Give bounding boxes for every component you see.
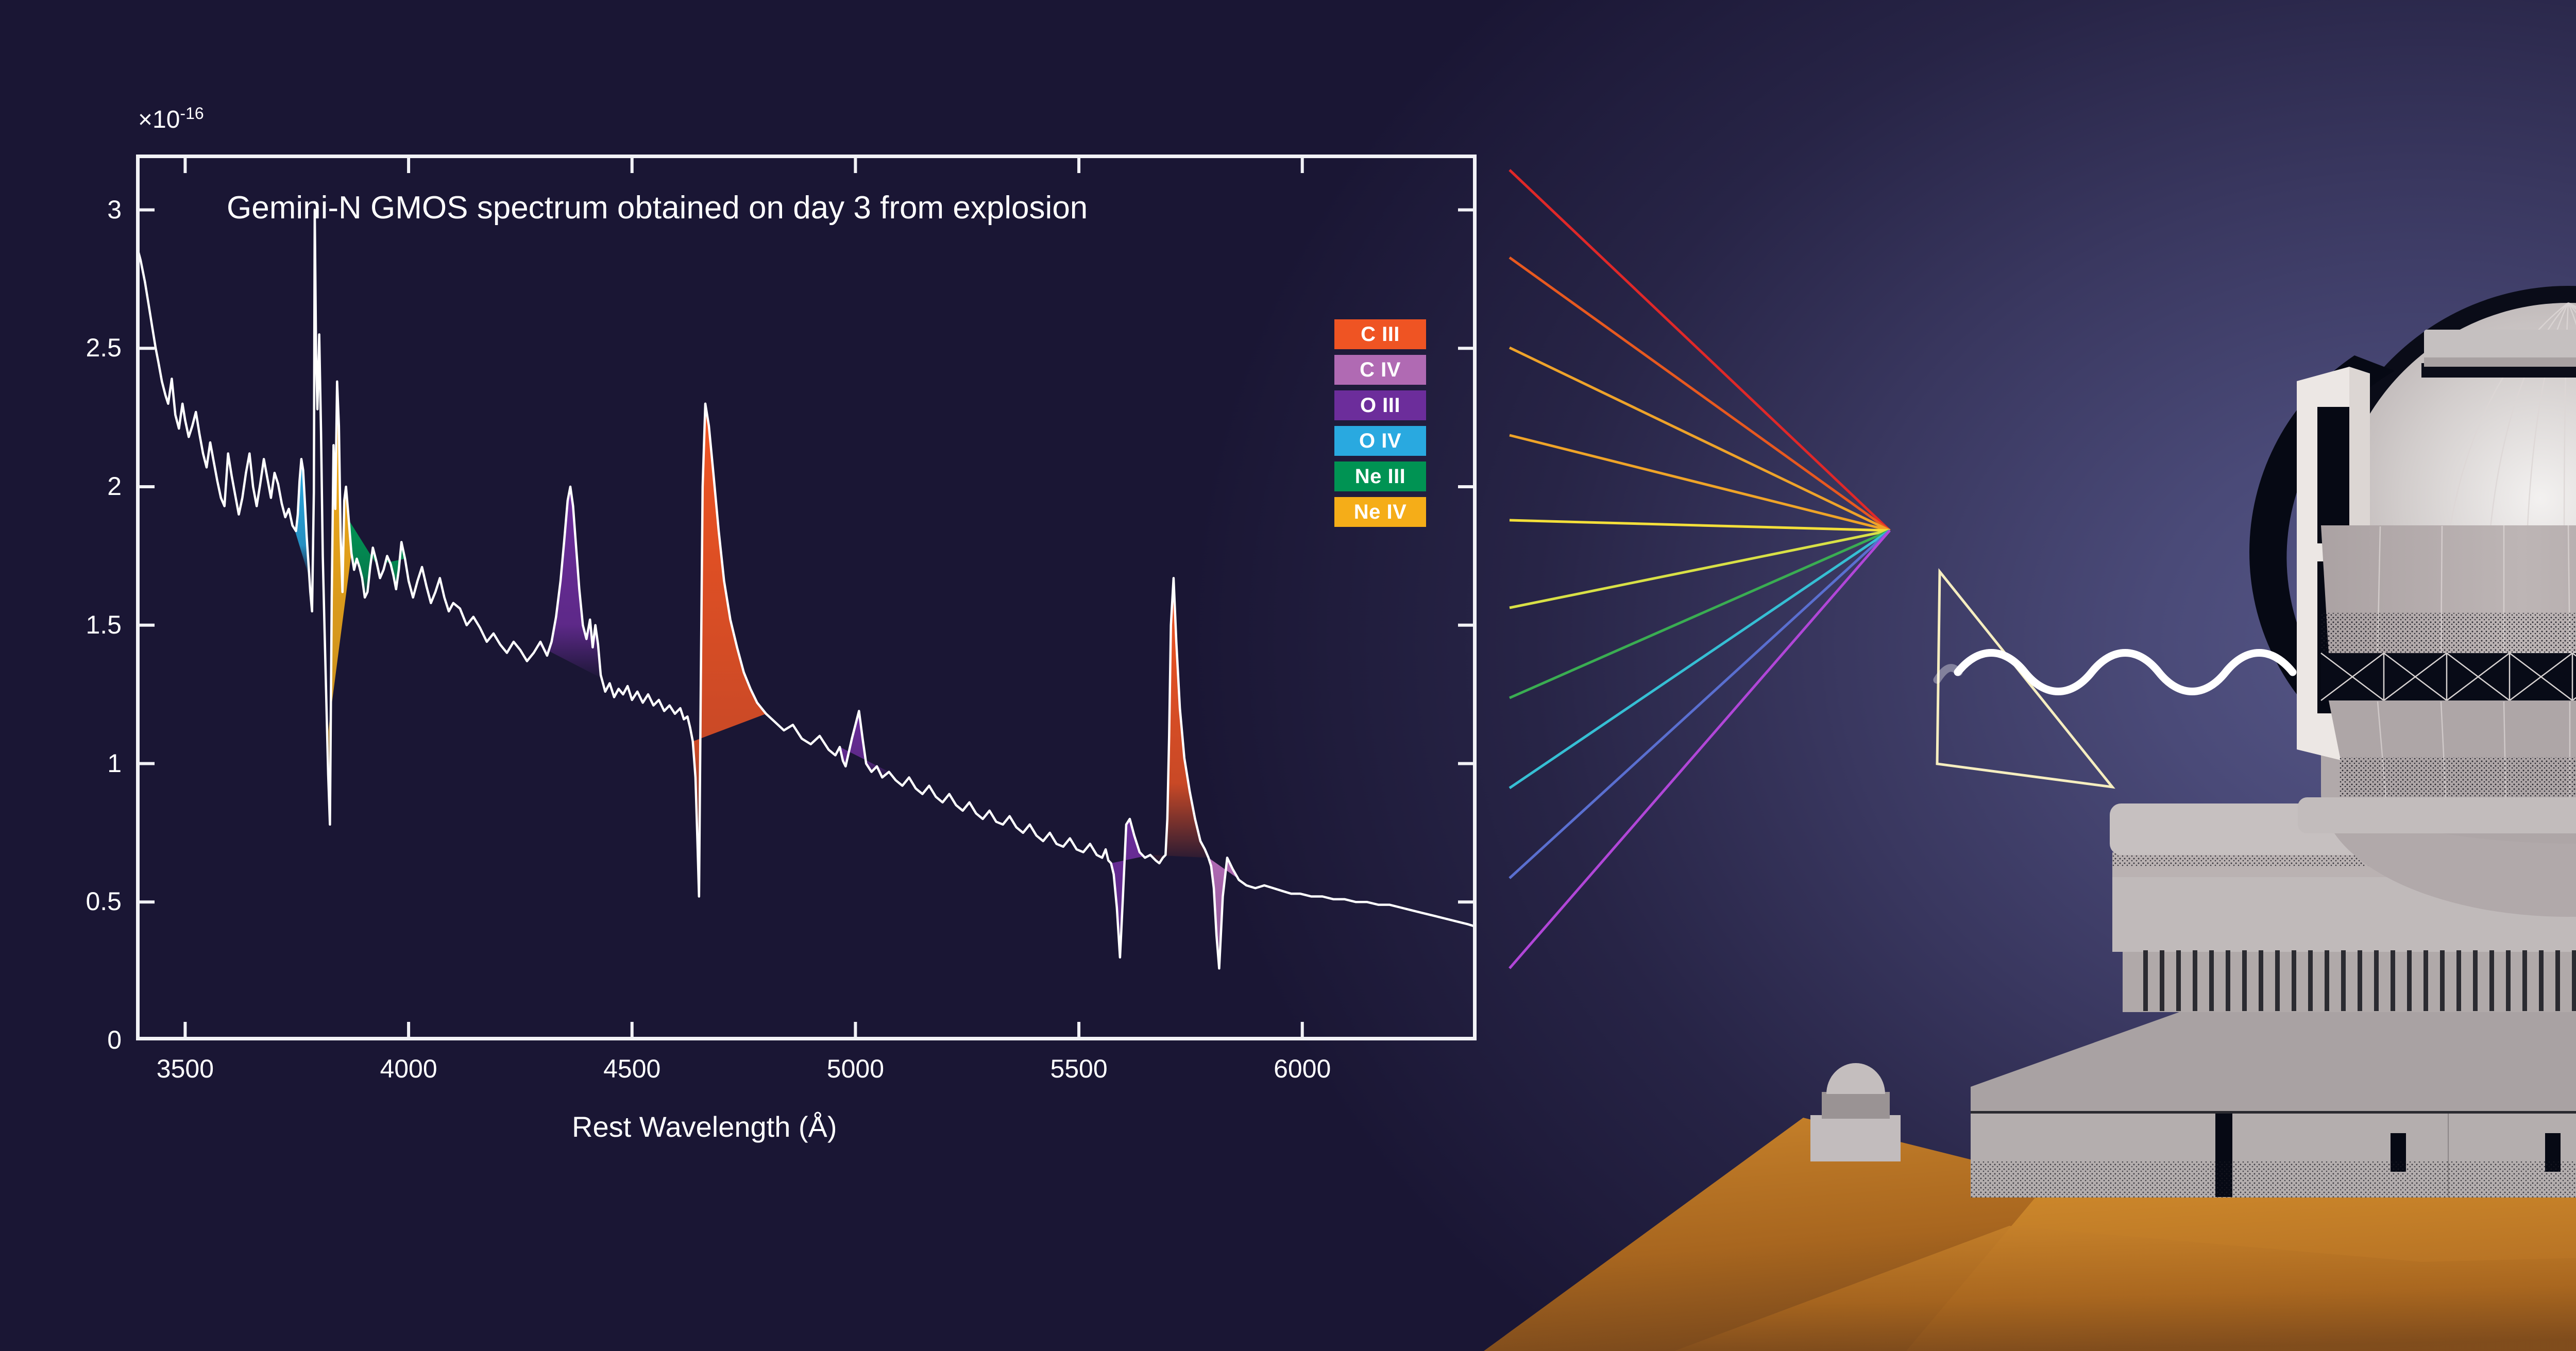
- legend-item-ne-iv[interactable]: Ne IV: [1334, 497, 1426, 527]
- legend-item-ne-iii[interactable]: Ne III: [1334, 461, 1426, 491]
- legend-label: C IV: [1360, 358, 1401, 382]
- y-tick-label: 0.5: [49, 886, 122, 916]
- axis-exponent: ×10-16: [138, 104, 204, 134]
- y-tick-label: 3: [49, 195, 122, 225]
- dispersion-ray: [1510, 531, 1890, 698]
- dispersion-ray: [1510, 531, 1890, 878]
- dispersion-ray: [1510, 520, 1890, 531]
- x-tick-label: 4500: [575, 1054, 689, 1084]
- y-tick-label: 1: [49, 748, 122, 778]
- y-tick-label: 2: [49, 471, 122, 501]
- x-tick-label: 5500: [1022, 1054, 1136, 1084]
- x-axis-label: Rest Wavelength (Å): [572, 1110, 837, 1143]
- x-tick-label: 5000: [799, 1054, 912, 1084]
- y-tick-label: 1.5: [49, 610, 122, 640]
- legend-item-c-iii[interactable]: C III: [1334, 319, 1426, 349]
- legend-label: O IV: [1359, 430, 1401, 453]
- legend-label: Ne IV: [1354, 501, 1407, 524]
- legend-item-c-iv[interactable]: C IV: [1334, 355, 1426, 385]
- x-tick-label: 6000: [1246, 1054, 1359, 1084]
- infographic-canvas: { "chart": { "exponent_prefix": "×10", "…: [0, 0, 2576, 1351]
- dispersion-ray: [1510, 170, 1890, 531]
- legend-label: C III: [1361, 323, 1400, 346]
- legend-label: O III: [1360, 394, 1400, 417]
- legend-item-o-iv[interactable]: O IV: [1334, 426, 1426, 456]
- ion-legend: C IIIC IVO IIIO IVNe IIINe IV: [1334, 319, 1426, 533]
- plot-frame: [136, 155, 1477, 1040]
- exponent-power: -16: [180, 104, 204, 123]
- y-tick-label: 0: [49, 1025, 122, 1055]
- legend-item-o-iii[interactable]: O III: [1334, 390, 1426, 420]
- x-tick-label: 4000: [352, 1054, 465, 1084]
- x-tick-label: 3500: [128, 1054, 242, 1084]
- legend-label: Ne III: [1355, 465, 1406, 488]
- dispersion-ray: [1510, 348, 1890, 531]
- dispersion-ray: [1510, 258, 1890, 531]
- dispersion-ray: [1510, 435, 1890, 531]
- y-tick-label: 2.5: [49, 333, 122, 363]
- spectrum-plot: [136, 155, 1477, 1040]
- exponent-base: ×10: [138, 106, 180, 133]
